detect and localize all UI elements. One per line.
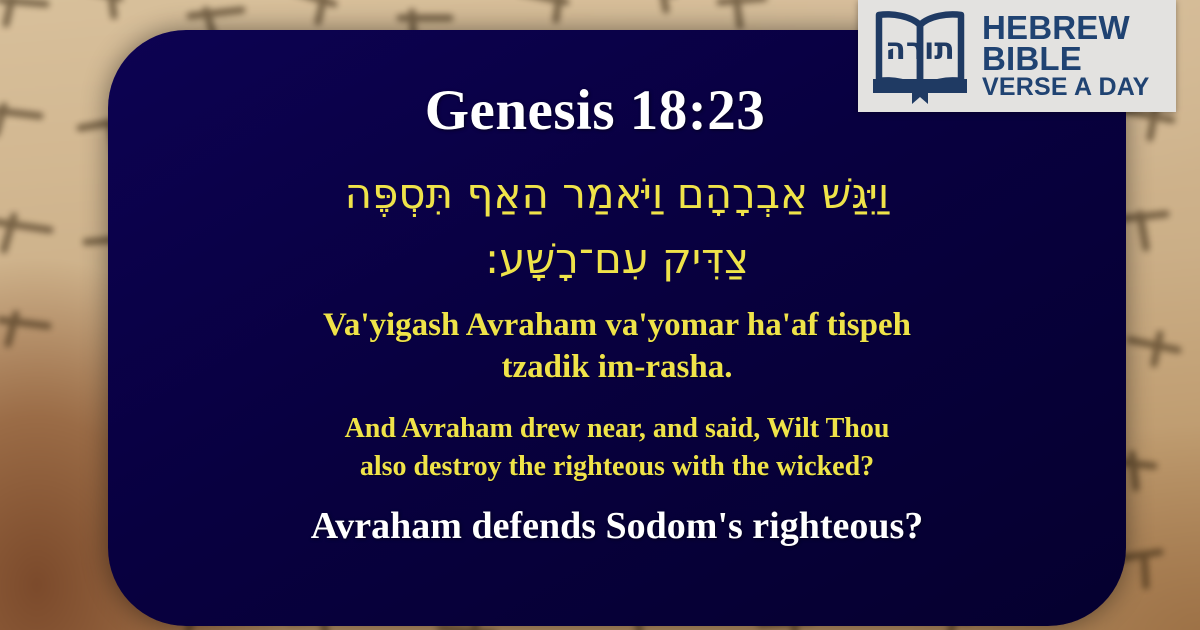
transliteration-line-2: tzadik im-rasha. [197,347,1037,389]
english-translation-text: And Avraham drew near, and said, Wilt Th… [202,410,1032,486]
verse-image-canvas: Genesis 18:23 וַיִּגַּשׁ אַבְרָהָם וַיֹּ… [0,0,1200,630]
verse-card-content: Genesis 18:23 וַיִּגַּשׁ אַבְרָהָם וַיֹּ… [108,30,1126,626]
verse-card: Genesis 18:23 וַיִּגַּשׁ אַבְרָהָם וַיֹּ… [108,30,1126,626]
brand-line-3: VERSE A DAY [982,76,1150,99]
brand-logo: תורה HEBREW BIBLE VERSE A DAY [858,0,1176,112]
hebrew-verse-text: וַיִּגַּשׁ אַבְרָהָם וַיֹּאמַר הַאַף תִּ… [192,161,1042,291]
translation-line-2: also destroy the righteous with the wick… [202,448,1032,486]
brand-logo-text: HEBREW BIBLE VERSE A DAY [982,13,1150,99]
brand-line-2: BIBLE [982,44,1150,74]
brand-line-1: HEBREW [982,13,1150,43]
transliteration-line-1: Va'yigash Avraham va'yomar ha'af tispeh [197,305,1037,347]
torah-hebrew-glyphs: תורה [885,32,954,67]
open-book-torah-icon: תורה [868,7,972,105]
hebrew-verse-line-2: צַדִּיק עִם־רָשָׁע: [192,226,1042,291]
transliteration-text: Va'yigash Avraham va'yomar ha'af tispeh … [197,305,1037,388]
verse-reference: Genesis 18:23 [425,82,766,139]
translation-line-1: And Avraham drew near, and said, Wilt Th… [202,410,1032,448]
verse-caption: Avraham defends Sodom's righteous? [137,506,1097,548]
hebrew-verse-line-1: וַיִּגַּשׁ אַבְרָהָם וַיֹּאמַר הַאַף תִּ… [192,161,1042,226]
